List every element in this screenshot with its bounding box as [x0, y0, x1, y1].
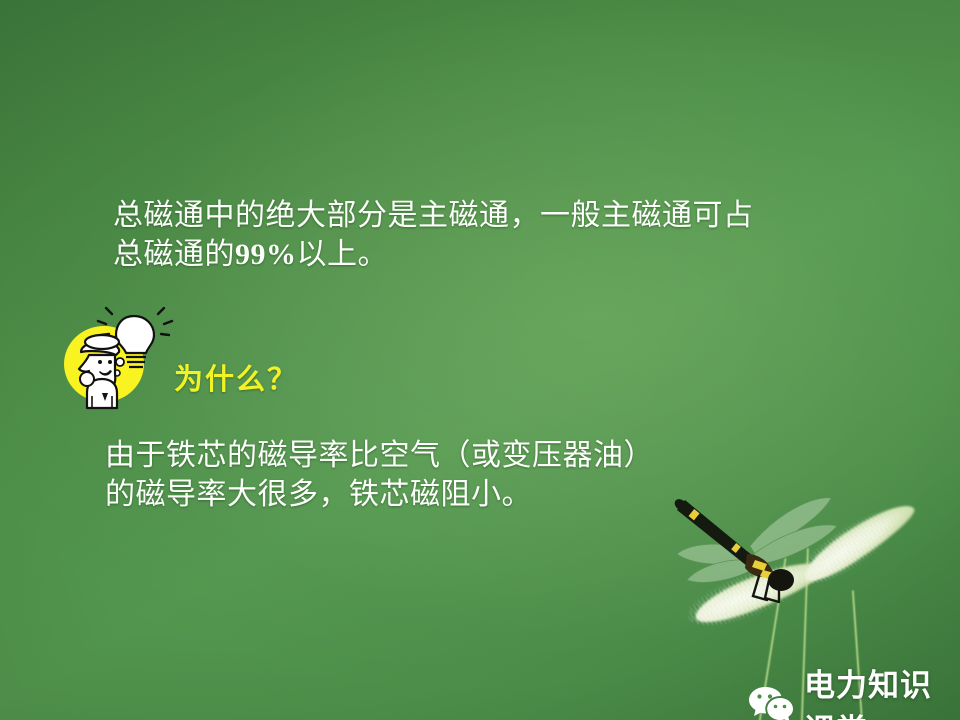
- paragraph-main-flux-tail: 以上。: [297, 238, 389, 271]
- slide-canvas: 总磁通中的绝大部分是主磁通，一般主磁通可占 总磁通的99%以上。: [0, 0, 960, 720]
- paragraph-main-flux-text: 总磁通中的绝大部分是主磁通，一般主磁通可占 总磁通的: [113, 199, 754, 271]
- channel-watermark: 电力知识课堂: [748, 660, 960, 720]
- watermark-text: 电力知识课堂: [804, 660, 960, 720]
- foxtail-head-upper: [792, 486, 927, 599]
- paragraph-main-flux: 总磁通中的绝大部分是主磁通，一般主磁通可占 总磁通的99%以上。: [113, 196, 873, 274]
- paragraph-reason: 由于铁芯的磁导率比空气（或变压器油） 的磁导率大很多，铁芯磁阻小。: [105, 436, 805, 514]
- percentage-value: 99%: [235, 238, 297, 271]
- question-label: 为什么？: [174, 356, 298, 398]
- foxtail-head-lower: [686, 542, 834, 643]
- idea-mascot: [56, 300, 176, 412]
- wechat-logo-icon: [748, 685, 794, 720]
